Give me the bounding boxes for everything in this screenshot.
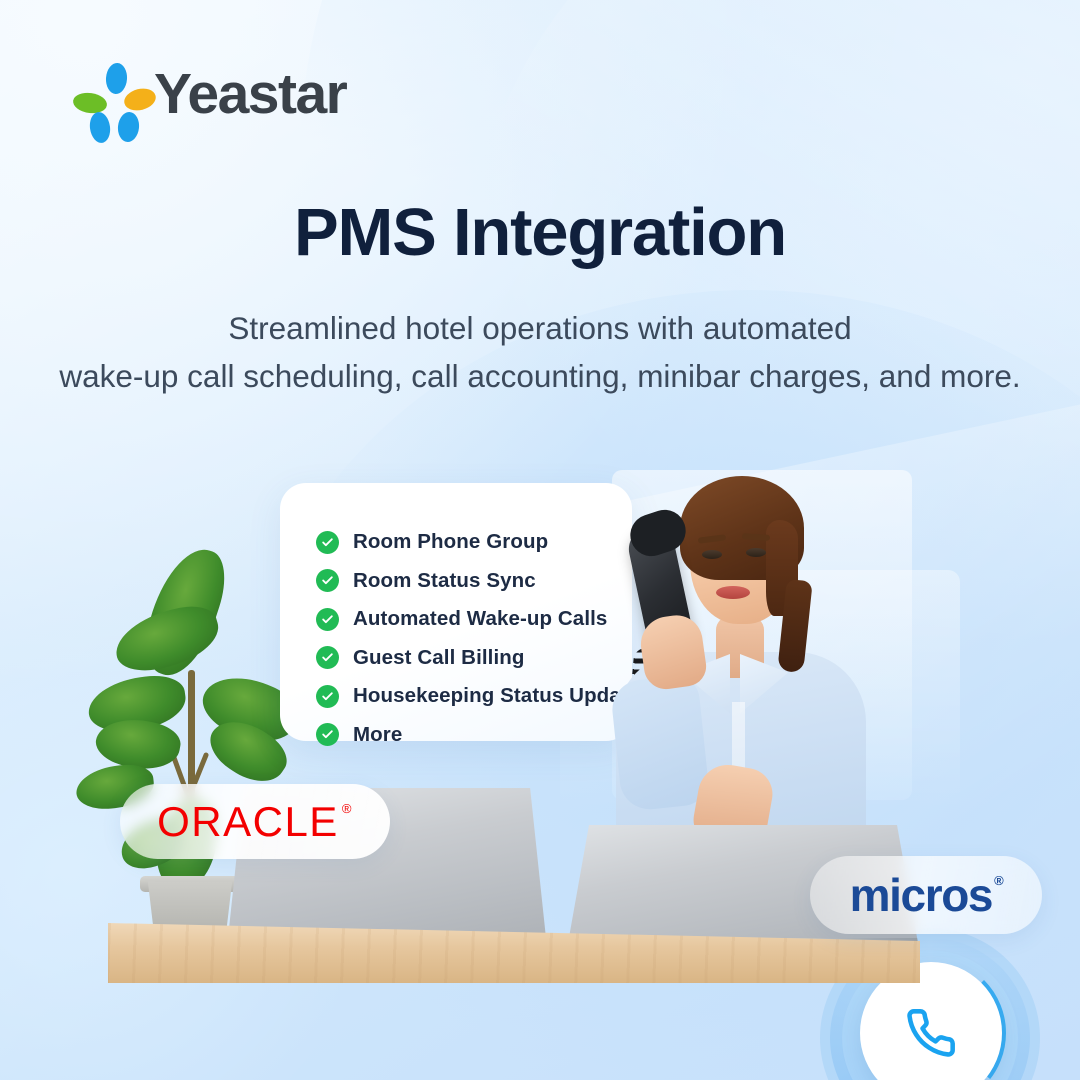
- micros-logo: micros ®: [850, 868, 1003, 922]
- person-eye-left: [702, 550, 722, 559]
- list-item-label: Room Phone Group: [353, 530, 548, 554]
- check-circle-icon: [316, 608, 339, 631]
- check-circle-icon: [316, 685, 339, 708]
- brand-logo: Yeastar: [76, 62, 346, 126]
- subtitle-line-2: wake-up call scheduling, call accounting…: [40, 353, 1040, 401]
- oracle-logo: ORACLE ®: [157, 798, 353, 846]
- logo-petal-right: [122, 85, 158, 113]
- partner-badge-oracle[interactable]: ORACLE ®: [120, 784, 390, 859]
- page-subtitle: Streamlined hotel operations with automa…: [40, 305, 1040, 401]
- registered-trademark-icon: ®: [342, 802, 353, 815]
- list-item-label: Room Status Sync: [353, 569, 536, 593]
- poster-canvas: Yeastar PMS Integration Streamlined hote…: [0, 0, 1080, 1080]
- hero-scene: Room Phone Group Room Status Sync Automa…: [0, 430, 1080, 1030]
- oracle-wordmark: ORACLE: [157, 798, 339, 846]
- logo-petal-bottom-left: [88, 111, 112, 144]
- check-circle-icon: [316, 723, 339, 746]
- check-circle-icon: [316, 646, 339, 669]
- check-circle-icon: [316, 531, 339, 554]
- micros-wordmark: micros: [850, 868, 992, 922]
- partner-badge-micros[interactable]: micros ®: [810, 856, 1042, 934]
- person-lips: [716, 586, 750, 599]
- list-item-label: Automated Wake-up Calls: [353, 607, 607, 631]
- registered-trademark-icon: ®: [994, 874, 1002, 887]
- logo-petal-top: [105, 62, 128, 94]
- person-hand-holding-phone: [637, 612, 708, 692]
- yeastar-petal-logo-icon: [76, 62, 140, 126]
- subtitle-line-1: Streamlined hotel operations with automa…: [40, 305, 1040, 353]
- logo-petal-left: [72, 91, 108, 116]
- page-title: PMS Integration: [0, 194, 1080, 271]
- list-item-label: More: [353, 723, 402, 747]
- list-item-label: Guest Call Billing: [353, 646, 525, 670]
- brand-name: Yeastar: [154, 66, 346, 123]
- person-sleeve: [609, 674, 710, 812]
- phone-handset-icon: [905, 1007, 957, 1059]
- check-circle-icon: [316, 569, 339, 592]
- person-eye-right: [746, 548, 766, 557]
- logo-petal-bottom-right: [116, 111, 140, 143]
